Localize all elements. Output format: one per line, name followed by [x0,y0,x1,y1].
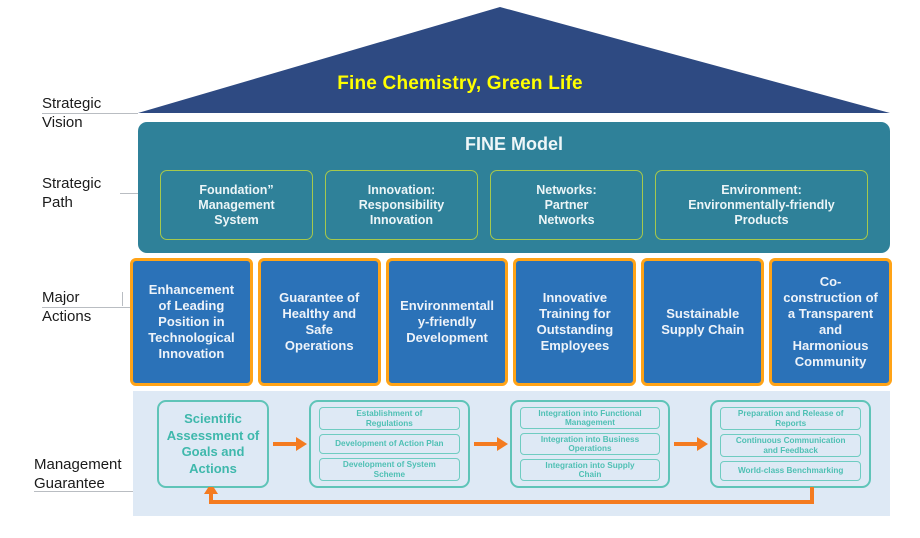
major-actions-row: Enhancement of Leading Position in Techn… [130,258,892,386]
fine-model-box-networks[interactable]: Networks: Partner Networks [490,170,643,240]
flow-arrow-3-icon [670,400,710,488]
fine-model-box-foundation[interactable]: Foundation” Management System [160,170,313,240]
action-box-technological-innovation[interactable]: Enhancement of Leading Position in Techn… [130,258,253,386]
management-guarantee-flow: Scientific Assessment of Goals and Actio… [157,400,871,488]
roof-title: Fine Chemistry, Green Life [0,73,920,95]
action-box-healthy-safe-operations[interactable]: Guarantee of Healthy and Safe Operations [258,258,381,386]
strategy-house-diagram: Fine Chemistry, Green Life Strategic Vis… [0,0,920,538]
axis-label-management-guarantee: Management Guarantee [34,455,122,493]
fine-model-title: FINE Model [138,134,890,155]
mg-item-world-class-benchmarking[interactable]: World-class Benchmarking [720,461,861,481]
action-box-environmentally-friendly-development[interactable]: Environmentall y-friendly Development [386,258,509,386]
mg-item-establishment-of-regulations[interactable]: Establishment of Regulations [319,407,460,430]
action-box-innovative-training[interactable]: Innovative Training for Outstanding Empl… [513,258,636,386]
strategic-path-panel: FINE Model Foundation” Management System… [138,122,890,253]
management-guarantee-panel: Scientific Assessment of Goals and Actio… [133,391,890,516]
fine-model-box-innovation[interactable]: Innovation: Responsibility Innovation [325,170,478,240]
flow-arrow-2-icon [470,400,510,488]
axis-tick-major-actions [122,292,123,306]
fine-model-box-row: Foundation” Management System Innovation… [160,170,868,240]
mg-item-integration-business-operations[interactable]: Integration into Business Operations [520,433,661,455]
mg-item-integration-supply-chain[interactable]: Integration into Supply Chain [520,459,661,481]
axis-label-strategic-path: Strategic Path [42,174,101,212]
roof-shape-icon [0,0,920,120]
mg-item-preparation-release-of-reports[interactable]: Preparation and Release of Reports [720,407,861,430]
mg-item-integration-functional-management[interactable]: Integration into Functional Management [520,407,661,429]
mg-item-development-of-system-scheme[interactable]: Development of System Scheme [319,458,460,481]
fine-model-box-environment[interactable]: Environment: Environmentally-friendly Pr… [655,170,868,240]
axis-rule-strategic-vision [42,113,138,114]
axis-rule-major-actions [42,307,138,308]
strategic-vision-roof: Fine Chemistry, Green Life [0,0,920,120]
mg-item-continuous-communication-feedback[interactable]: Continuous Communication and Feedback [720,434,861,457]
mg-stage-scientific-assessment[interactable]: Scientific Assessment of Goals and Actio… [157,400,269,488]
mg-item-development-of-action-plan[interactable]: Development of Action Plan [319,434,460,454]
flow-arrow-1-icon [269,400,309,488]
mg-stage-integration[interactable]: Integration into Functional Management I… [510,400,671,488]
mg-stage-regulations-and-plans[interactable]: Establishment of Regulations Development… [309,400,470,488]
axis-rule-management-guarantee [34,491,138,492]
action-box-transparent-harmonious-community[interactable]: Co- construction of a Transparent and Ha… [769,258,892,386]
feedback-loop-arrow-icon [157,487,871,513]
mg-stage-reporting-and-benchmarking[interactable]: Preparation and Release of Reports Conti… [710,400,871,488]
action-box-sustainable-supply-chain[interactable]: Sustainable Supply Chain [641,258,764,386]
